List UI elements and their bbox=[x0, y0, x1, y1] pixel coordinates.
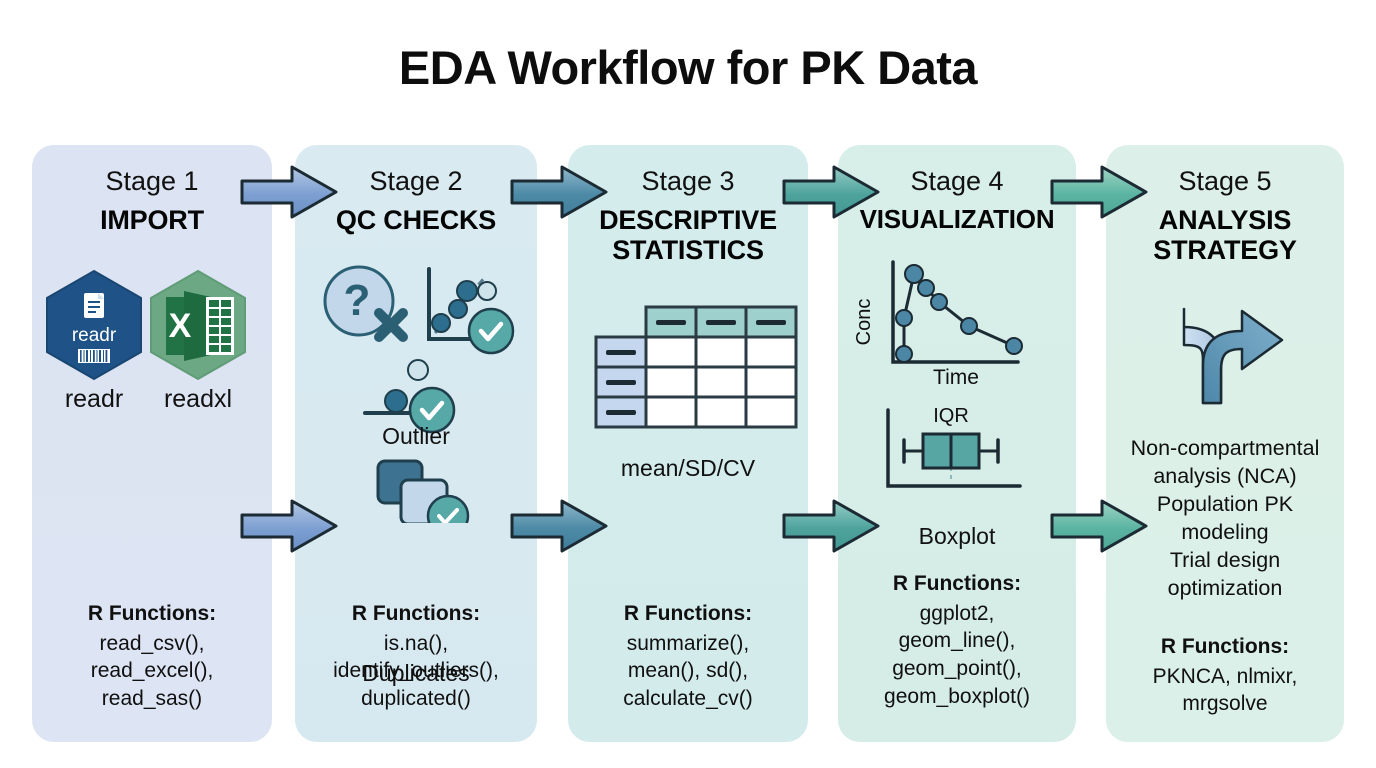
workflow-diagram: Stage 1 IMPORT readr bbox=[0, 145, 1376, 745]
stage-4-function-1: geom_line(), bbox=[838, 627, 1076, 655]
stage-5-functions: R Functions: PKNCA, nlmixr, mrgsolve bbox=[1106, 633, 1344, 718]
fork-arrow-icon bbox=[1106, 283, 1344, 413]
stage-5-icons bbox=[1106, 283, 1344, 413]
stage-2-icons: ? bbox=[295, 253, 537, 523]
connector-arrow-1-bottom bbox=[236, 497, 346, 555]
connector-arrow-2-top bbox=[506, 163, 616, 221]
stage-5-functions-heading: R Functions: bbox=[1106, 633, 1344, 661]
stage-5-title-line2: STRATEGY bbox=[1106, 235, 1344, 265]
svg-text:readr: readr bbox=[72, 325, 117, 346]
readr-hex-icon: readr bbox=[40, 267, 148, 387]
connector-arrow-3-bottom bbox=[778, 497, 888, 555]
readr-label: readr bbox=[34, 385, 154, 414]
connector-arrow-1-top bbox=[236, 163, 346, 221]
outlier-icon bbox=[365, 360, 454, 432]
stage-3-functions: R Functions: summarize(), mean(), sd(), … bbox=[568, 600, 808, 713]
page-title: EDA Workflow for PK Data bbox=[0, 40, 1376, 95]
svg-text:?: ? bbox=[344, 276, 371, 325]
stage-4-functions: R Functions: ggplot2, geom_line(), geom_… bbox=[838, 570, 1076, 711]
stage-2-functions-heading: R Functions: bbox=[295, 600, 537, 628]
connector-arrow-3-top bbox=[778, 163, 888, 221]
stage-5-function-0: PKNCA, nlmixr, bbox=[1106, 663, 1344, 691]
stage-4-function-0: ggplot2, bbox=[838, 600, 1076, 628]
stage-1-functions: R Functions: read_csv(), read_excel(), r… bbox=[32, 600, 272, 713]
stage-1-function-2: read_sas() bbox=[32, 685, 272, 713]
summary-table-icon bbox=[568, 299, 808, 429]
stage-2-function-0: is.na(), bbox=[295, 630, 537, 658]
connector-arrow-4-bottom bbox=[1046, 497, 1156, 555]
stage-1-icons: readr readr X bbox=[32, 257, 272, 447]
stage-3-function-1: mean(), sd(), bbox=[568, 657, 808, 685]
chart-x-axis-label: Time bbox=[933, 366, 979, 389]
stage-2-functions: R Functions: is.na(), identify_outliers(… bbox=[295, 600, 537, 713]
connector-arrow-2-bottom bbox=[506, 497, 616, 555]
stage-5-bullet-1: analysis (NCA) bbox=[1106, 463, 1344, 491]
stage-5-function-1: mrgsolve bbox=[1106, 690, 1344, 718]
stage-4-conc-time-chart: Conc Time bbox=[838, 256, 1076, 386]
stage-panel-import[interactable]: Stage 1 IMPORT readr bbox=[32, 145, 272, 742]
stage-4-function-3: geom_boxplot() bbox=[838, 683, 1076, 711]
stage-panel-analysis-strategy[interactable]: Stage 5 ANALYSIS STRATEGY Non-c bbox=[1106, 145, 1344, 742]
stage-4-functions-heading: R Functions: bbox=[838, 570, 1076, 598]
stage-3-function-0: summarize(), bbox=[568, 630, 808, 658]
boxplot-iqr-label: IQR bbox=[933, 405, 969, 427]
stage-panel-visualization[interactable]: Stage 4 VISUALIZATION Conc Time bbox=[838, 145, 1076, 742]
stage-3-title-line2: STATISTICS bbox=[568, 235, 808, 265]
stage-5-bullet-0: Non-compartmental bbox=[1106, 435, 1344, 463]
stage-panel-qc-checks[interactable]: Stage 2 QC CHECKS ? bbox=[295, 145, 537, 742]
outlier-caption: Outlier bbox=[295, 423, 537, 450]
stage-panel-descriptive-statistics[interactable]: Stage 3 DESCRIPTIVE STATISTICS bbox=[568, 145, 808, 742]
stage-2-function-1: identify_outliers(), bbox=[295, 657, 537, 685]
svg-text:X: X bbox=[169, 307, 192, 345]
stage-1-functions-heading: R Functions: bbox=[32, 600, 272, 628]
stage-3-function-2: calculate_cv() bbox=[568, 685, 808, 713]
duplicates-icon bbox=[378, 461, 468, 523]
stage-5-bullet-5: optimization bbox=[1106, 575, 1344, 603]
stage-3-icons bbox=[568, 299, 808, 429]
stage-2-function-2: duplicated() bbox=[295, 685, 537, 713]
connector-arrow-4-top bbox=[1046, 163, 1156, 221]
stage-1-function-1: read_excel(), bbox=[32, 657, 272, 685]
mean-sd-cv-caption: mean/SD/CV bbox=[568, 455, 808, 482]
stage-4-function-2: geom_point(), bbox=[838, 655, 1076, 683]
chart-y-axis-label: Conc bbox=[853, 298, 875, 345]
readxl-label: readxl bbox=[138, 385, 258, 414]
scatter-check-icon bbox=[429, 269, 513, 353]
stage-1-function-0: read_csv(), bbox=[32, 630, 272, 658]
missing-data-icon: ? bbox=[325, 267, 403, 337]
readxl-hex-icon: X bbox=[144, 267, 252, 387]
stage-3-functions-heading: R Functions: bbox=[568, 600, 808, 628]
